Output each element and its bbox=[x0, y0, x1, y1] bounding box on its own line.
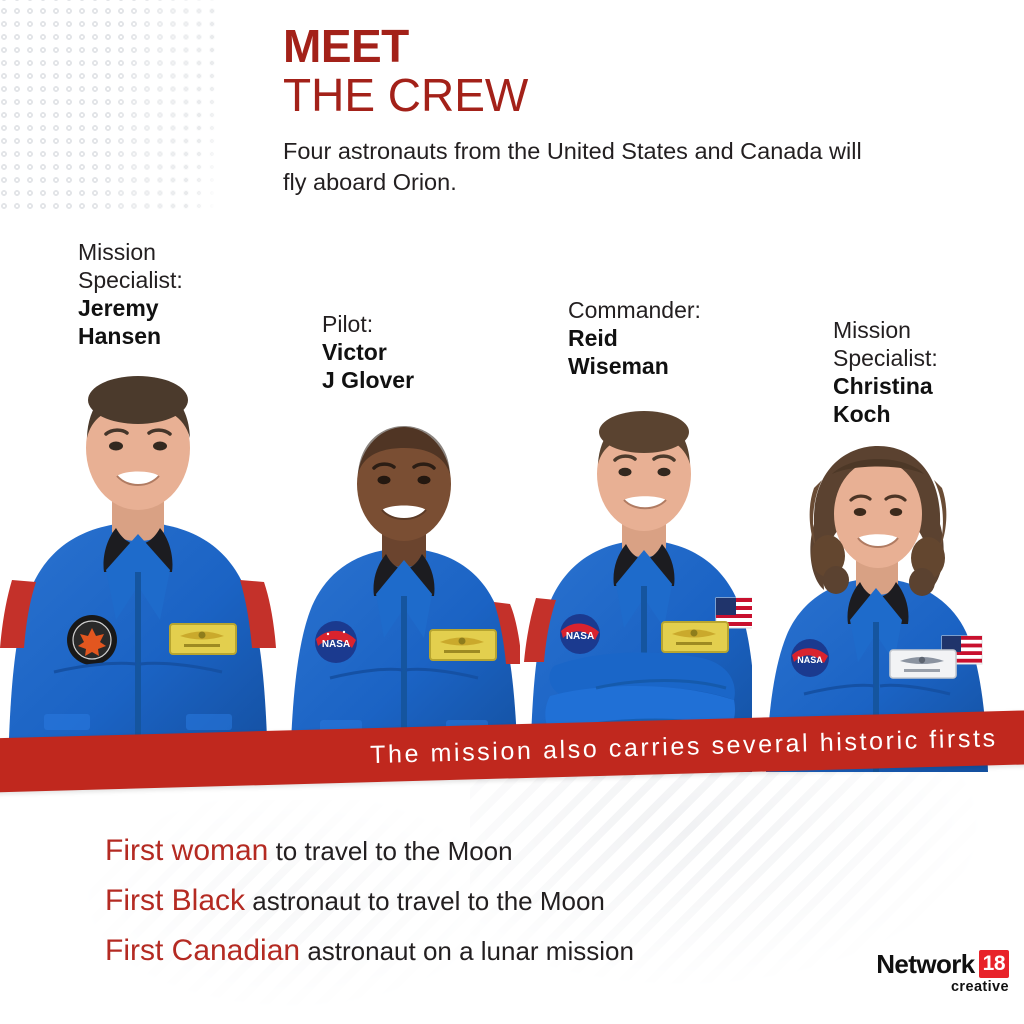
list-item: First woman to travel to the Moon bbox=[105, 826, 634, 876]
first-rest: astronaut on a lunar mission bbox=[300, 936, 634, 966]
crew-label-jeremy-hansen: Mission Specialist: Jeremy Hansen bbox=[78, 238, 183, 350]
logo-tagline: creative bbox=[861, 979, 1009, 995]
banner-text: The mission also carries several histori… bbox=[370, 722, 1024, 770]
crew-photo-reid-wiseman: NASA bbox=[520, 390, 768, 772]
first-rest: astronaut to travel to the Moon bbox=[245, 886, 605, 916]
logo-main-row: Network 18 bbox=[861, 950, 1009, 978]
first-highlight: First Black bbox=[105, 884, 245, 917]
header: MEET THE CREW Four astronauts from the U… bbox=[283, 24, 903, 198]
logo-wordmark: Network bbox=[876, 951, 974, 977]
dot-grid-pattern-icon bbox=[0, 0, 215, 209]
crew-role-line1: Mission bbox=[78, 238, 183, 266]
crew-role-line1: Pilot: bbox=[322, 310, 414, 338]
crew-name-line1: Reid bbox=[568, 324, 701, 352]
crew-name-line1: Jeremy bbox=[78, 294, 183, 322]
svg-text:NASA: NASA bbox=[566, 631, 594, 642]
crew-role-line2: Specialist: bbox=[78, 266, 183, 294]
crew-role-line1: Mission bbox=[833, 316, 938, 344]
list-item: First Black astronaut to travel to the M… bbox=[105, 876, 634, 926]
first-highlight: First Canadian bbox=[105, 934, 300, 967]
infographic-canvas: MEET THE CREW Four astronauts from the U… bbox=[0, 0, 1024, 1024]
historic-firsts-list: First woman to travel to the Moon First … bbox=[105, 826, 634, 976]
page-title-line1: MEET bbox=[283, 24, 903, 68]
network18-logo: Network 18 creative bbox=[861, 950, 1009, 995]
crew-name-line2: Hansen bbox=[78, 322, 183, 350]
svg-text:NASA: NASA bbox=[797, 655, 823, 665]
crew-photo-jeremy-hansen bbox=[0, 372, 288, 772]
first-rest: to travel to the Moon bbox=[268, 836, 512, 866]
list-item: First Canadian astronaut on a lunar miss… bbox=[105, 926, 634, 976]
first-highlight: First woman bbox=[105, 834, 268, 867]
dot-grid-solid-pattern-icon bbox=[0, 0, 215, 209]
crew-role-line1: Commander: bbox=[568, 296, 701, 324]
svg-text:NASA: NASA bbox=[322, 639, 350, 650]
page-title-line2: THE CREW bbox=[283, 68, 903, 122]
crew-photo-victor-j-glover: NASA bbox=[278, 412, 530, 772]
crew-photo-strip: NASA bbox=[0, 360, 1024, 772]
page-subtitle: Four astronauts from the United States a… bbox=[283, 136, 863, 198]
logo-number-badge: 18 bbox=[979, 950, 1009, 978]
